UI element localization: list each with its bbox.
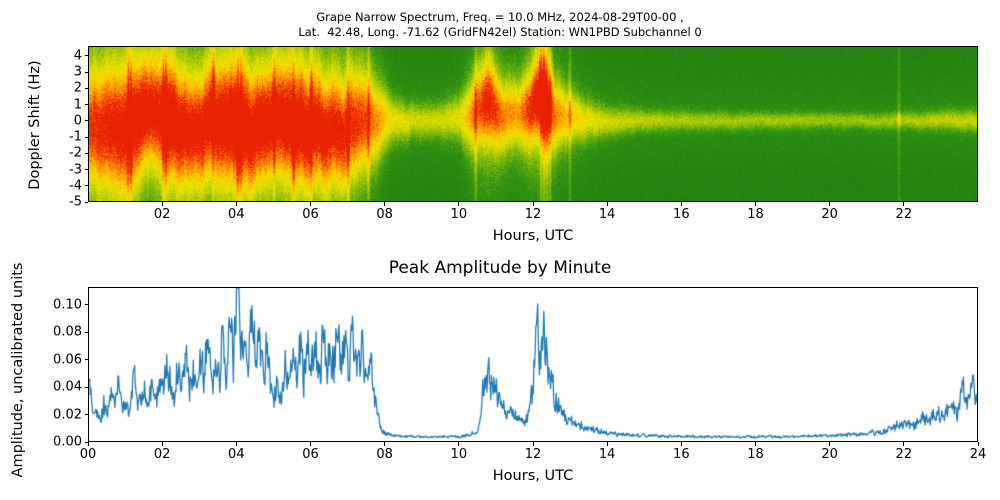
amplitude-xaxis-label: Hours, UTC [88,468,978,484]
y-tick-mark [85,169,89,170]
y-tick-mark [85,387,89,388]
x-tick-label: 08 [376,207,393,222]
x-tick-mark [903,442,904,446]
x-tick-label: 02 [154,447,171,462]
x-tick-label: 14 [599,447,616,462]
spectrogram-title-line1: Grape Narrow Spectrum, Freq. = 10.0 MHz,… [0,10,1000,25]
x-tick-mark [236,202,237,206]
x-tick-label: 08 [376,447,393,462]
y-tick-mark [85,304,89,305]
x-tick-mark [162,202,163,206]
x-tick-label: 02 [154,207,171,222]
y-tick-mark [85,153,89,154]
x-tick-mark [755,442,756,446]
x-tick-label: 06 [302,207,319,222]
y-tick-mark [85,185,89,186]
x-tick-label: 20 [821,207,838,222]
y-tick-mark [85,414,89,415]
x-tick-label: 00 [80,447,97,462]
x-tick-mark [162,442,163,446]
x-tick-label: 06 [302,447,319,462]
spectrogram-title-line2: Lat. 42.48, Long. -71.62 (GridFN42el) St… [0,25,1000,40]
x-tick-mark [978,442,979,446]
x-tick-mark [903,202,904,206]
x-tick-label: 14 [599,207,616,222]
x-tick-label: 04 [228,447,245,462]
x-tick-label: 16 [673,447,690,462]
y-tick-mark [85,55,89,56]
x-tick-mark [607,442,608,446]
spectrogram-image [89,47,977,201]
x-tick-mark [533,202,534,206]
x-tick-label: 20 [821,447,838,462]
spectrogram-yaxis-label: Doppler Shift (Hz) [27,45,43,205]
x-tick-label: 10 [451,207,468,222]
x-tick-label: 24 [970,447,987,462]
spectrogram-plot-area [88,46,978,202]
x-tick-mark [681,442,682,446]
y-tick-mark [85,88,89,89]
x-tick-label: 22 [896,447,913,462]
x-tick-mark [458,202,459,206]
x-tick-label: 22 [896,207,913,222]
x-tick-mark [829,202,830,206]
x-tick-mark [310,442,311,446]
amplitude-yaxis-label: Amplitude, uncalibrated units [10,255,26,485]
y-tick-mark [85,442,89,443]
x-tick-label: 12 [525,447,542,462]
amplitude-line-series [89,288,977,441]
y-tick-mark [85,137,89,138]
x-tick-mark [384,202,385,206]
x-tick-label: 18 [747,207,764,222]
y-tick-mark [85,202,89,203]
x-tick-mark [458,442,459,446]
x-tick-mark [384,442,385,446]
y-tick-mark [85,72,89,73]
x-tick-label: 18 [747,447,764,462]
x-tick-label: 16 [673,207,690,222]
y-tick-mark [85,120,89,121]
figure-canvas: Grape Narrow Spectrum, Freq. = 10.0 MHz,… [0,0,1000,500]
y-tick-mark [85,359,89,360]
x-tick-label: 04 [228,207,245,222]
x-tick-mark [755,202,756,206]
x-tick-label: 12 [525,207,542,222]
amplitude-chart-title: Peak Amplitude by Minute [0,258,1000,279]
x-tick-label: 10 [451,447,468,462]
amplitude-plot-area [88,287,978,442]
x-tick-mark [310,202,311,206]
x-tick-mark [607,202,608,206]
x-tick-mark [681,202,682,206]
x-tick-mark [236,442,237,446]
y-tick-mark [85,104,89,105]
y-tick-mark [85,332,89,333]
x-tick-mark [533,442,534,446]
spectrogram-xaxis-label: Hours, UTC [88,228,978,244]
x-tick-mark [829,442,830,446]
